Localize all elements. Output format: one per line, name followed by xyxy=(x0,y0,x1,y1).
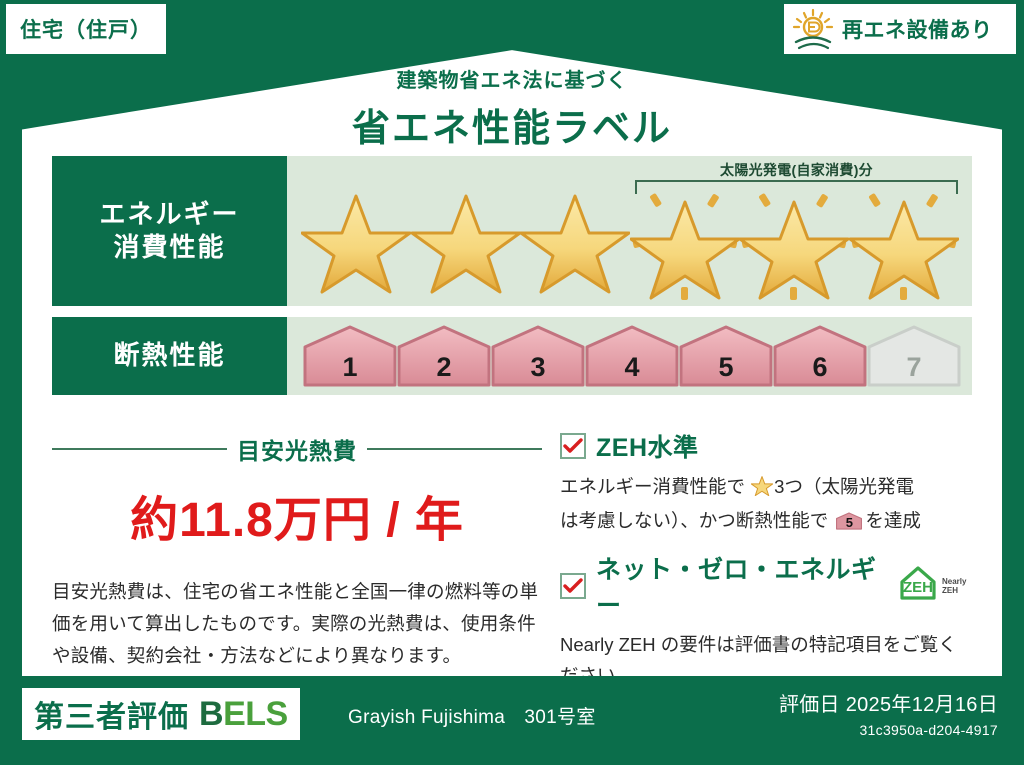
insulation-performance-row: 断熱性能 1 xyxy=(52,317,972,395)
dwelling-type-tab: 住宅（住戸） xyxy=(6,4,166,54)
zeh-logo: ZEH Nearly ZEH xyxy=(898,564,972,609)
solar-annotation-label: 太陽光発電(自家消費)分 xyxy=(635,160,958,180)
inline-star-icon xyxy=(751,474,773,505)
evaluation-id: 31c3950a-d204-4917 xyxy=(779,722,998,738)
insulation-level: 4 xyxy=(585,325,679,387)
lower-content: 目安光熱費 約11.8万円 / 年 目安光熱費は、住宅の省エネ性能と全国一律の燃… xyxy=(52,428,972,695)
energy-performance-row: エネルギー 消費性能 太陽光発電(自家消費)分 xyxy=(52,156,972,306)
sun-icon xyxy=(792,8,836,50)
star-icon xyxy=(301,188,411,294)
dwelling-type-label: 住宅（住戸） xyxy=(20,14,152,44)
title-block: 建築物省エネ法に基づく 省エネ性能ラベル xyxy=(22,64,1002,152)
star-item xyxy=(520,182,630,300)
check-icon xyxy=(563,578,583,594)
energy-cost-section: 目安光熱費 約11.8万円 / 年 目安光熱費は、住宅の省エネ性能と全国一律の燃… xyxy=(52,428,542,695)
checkbox-checked xyxy=(560,433,586,459)
insulation-level: 1 xyxy=(303,325,397,387)
evaluation-date: 評価日 2025年12月16日 xyxy=(779,688,998,717)
insulation-scale: 1 2 3 xyxy=(287,317,972,395)
label-card: 建築物省エネ法に基づく 省エネ性能ラベル エネルギー 消費性能 太陽光発電(自家… xyxy=(22,36,1002,676)
zeh-standard-title: ZEH水準 xyxy=(596,428,699,464)
zeh-section: ZEH水準 エネルギー消費性能で 3つ（太陽光発電 は考慮しない）、かつ断熱性能… xyxy=(542,428,972,695)
divider-right xyxy=(367,448,542,450)
energy-performance-body: 太陽光発電(自家消費)分 xyxy=(287,156,972,306)
bels-jp-label: 第三者評価 xyxy=(34,692,189,736)
zeh-logo-icon: ZEH Nearly ZEH xyxy=(898,564,972,604)
bels-en-label: BELS xyxy=(199,695,288,734)
zeh-standard-heading: ZEH水準 xyxy=(560,428,972,464)
energy-cost-note: 目安光熱費は、住宅の省エネ性能と全国一律の燃料等の単価を用いて算出したものです。… xyxy=(52,576,542,671)
insulation-performance-body: 1 2 3 xyxy=(287,317,972,395)
insulation-level-number: 1 xyxy=(303,352,397,383)
check-icon xyxy=(563,438,583,454)
zeh-standard-body: エネルギー消費性能で 3つ（太陽光発電 は考慮しない）、かつ断熱性能で 5 xyxy=(560,471,972,536)
bels-letter-b: B xyxy=(199,695,223,733)
svg-text:ZEH: ZEH xyxy=(903,579,933,596)
footer: 第三者評価 BELS Grayish Fujishima 301号室 評価日 2… xyxy=(0,676,1024,765)
renewable-equipment-badge: 再エネ設備あり xyxy=(784,4,1016,54)
insulation-level-number: 4 xyxy=(585,352,679,383)
insulation-level: 2 xyxy=(397,325,491,387)
insulation-performance-label: 断熱性能 xyxy=(52,317,287,395)
insulation-level: 3 xyxy=(491,325,585,387)
checkbox-checked xyxy=(560,573,586,599)
energy-cost-value: 約11.8万円 / 年 xyxy=(52,480,542,550)
star-item xyxy=(301,182,411,300)
energy-performance-label: エネルギー 消費性能 xyxy=(52,156,287,306)
star-item-solar xyxy=(849,182,959,300)
zeh-netzero-title: ネット・ゼロ・エネルギー xyxy=(596,550,882,622)
insulation-level-number: 2 xyxy=(397,352,491,383)
title-subtitle: 建築物省エネ法に基づく xyxy=(22,64,1002,93)
star-item-solar xyxy=(739,182,849,300)
zeh-body-pre: エネルギー消費性能で xyxy=(560,476,745,497)
inline-house-number: 5 xyxy=(836,516,862,529)
zeh-netzero-heading: ネット・ゼロ・エネルギー ZEH Nearly ZEH xyxy=(560,550,972,622)
bels-letters-els: ELS xyxy=(223,695,288,733)
star-rating xyxy=(287,182,972,300)
evaluation-info: 評価日 2025年12月16日 31c3950a-d204-4917 xyxy=(779,688,998,738)
zeh-body-stars: 3つ（太陽光発電 xyxy=(774,476,914,497)
zeh-netzero-block: ネット・ゼロ・エネルギー ZEH Nearly ZEH Nearly ZEH の… xyxy=(560,550,972,691)
insulation-level-number: 5 xyxy=(679,352,773,383)
star-sparkle-icon xyxy=(849,188,959,300)
bels-logo: 第三者評価 BELS xyxy=(22,688,300,740)
inline-house-badge: 5 xyxy=(836,509,862,529)
star-icon xyxy=(520,188,630,294)
page-title: 省エネ性能ラベル xyxy=(22,97,1002,152)
property-name: Grayish Fujishima 301号室 xyxy=(348,702,596,729)
star-item xyxy=(411,182,521,300)
insulation-level-number: 3 xyxy=(491,352,585,383)
energy-cost-heading: 目安光熱費 xyxy=(52,432,542,466)
insulation-level-number: 7 xyxy=(867,352,961,383)
svg-text:Nearly: Nearly xyxy=(942,577,967,586)
zeh-body-mid: は考慮しない）、かつ断熱性能で xyxy=(560,510,828,531)
star-sparkle-icon xyxy=(630,188,740,300)
svg-text:ZEH: ZEH xyxy=(942,586,958,595)
divider-left xyxy=(52,448,227,450)
star-icon xyxy=(411,188,521,294)
label-root: 住宅（住戸） 再エネ設備あり 建築物省エネ法に基づく 省エネ性能ラベル xyxy=(0,0,1024,765)
insulation-level-inactive: 7 xyxy=(867,325,961,387)
renewable-badge-label: 再エネ設備あり xyxy=(842,14,993,44)
insulation-level: 5 xyxy=(679,325,773,387)
zeh-standard-block: ZEH水準 エネルギー消費性能で 3つ（太陽光発電 は考慮しない）、かつ断熱性能… xyxy=(560,428,972,536)
star-sparkle-icon xyxy=(739,188,849,300)
insulation-level: 6 xyxy=(773,325,867,387)
rating-rows: エネルギー 消費性能 太陽光発電(自家消費)分 xyxy=(52,156,972,406)
insulation-level-number: 6 xyxy=(773,352,867,383)
energy-cost-title: 目安光熱費 xyxy=(237,432,357,466)
star-item-solar xyxy=(630,182,740,300)
zeh-body-post: を達成 xyxy=(865,510,921,531)
